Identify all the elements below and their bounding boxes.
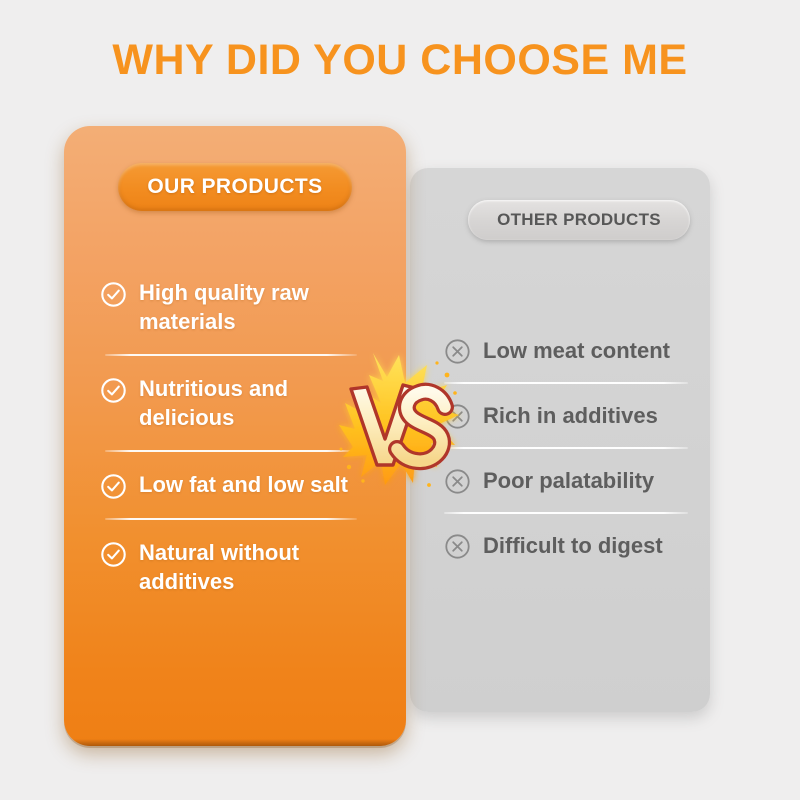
check-circle-icon	[100, 281, 127, 308]
list-item-label: Nutritious and delicious	[139, 374, 380, 432]
x-circle-icon	[444, 338, 471, 365]
list-divider	[105, 518, 357, 520]
list-item-label: Low fat and low salt	[139, 470, 348, 499]
our-products-heading-pill: OUR PRODUCTS	[118, 163, 352, 211]
x-circle-icon	[444, 533, 471, 560]
list-item-label: Poor palatability	[483, 466, 654, 495]
list-divider	[444, 382, 688, 384]
page-title: WHY DID YOU CHOOSE ME	[0, 36, 800, 85]
list-divider	[444, 447, 688, 449]
other-products-list: Low meat content Rich in additives Poor …	[444, 336, 694, 560]
list-item-label: Difficult to digest	[483, 531, 663, 560]
list-item: Rich in additives	[444, 401, 694, 430]
list-item-label: Rich in additives	[483, 401, 658, 430]
check-circle-icon	[100, 473, 127, 500]
list-divider	[444, 512, 688, 514]
list-item: Natural without additives	[100, 538, 380, 596]
our-products-heading-label: OUR PRODUCTS	[147, 175, 322, 199]
other-products-heading-label: OTHER PRODUCTS	[497, 210, 661, 230]
list-item: Low meat content	[444, 336, 694, 365]
x-circle-icon	[444, 403, 471, 430]
list-item-label: High quality raw materials	[139, 278, 380, 336]
list-item: Difficult to digest	[444, 531, 694, 560]
list-item: High quality raw materials	[100, 278, 380, 336]
check-circle-icon	[100, 377, 127, 404]
list-divider	[105, 354, 357, 356]
check-circle-icon	[100, 541, 127, 568]
infographic-canvas: WHY DID YOU CHOOSE ME OTHER PRODUCTS OUR…	[0, 0, 800, 800]
x-circle-icon	[444, 468, 471, 495]
list-item: Poor palatability	[444, 466, 694, 495]
list-item-label: Low meat content	[483, 336, 670, 365]
list-item: Nutritious and delicious	[100, 374, 380, 432]
list-divider	[105, 450, 357, 452]
list-item-label: Natural without additives	[139, 538, 380, 596]
list-item: Low fat and low salt	[100, 470, 380, 500]
other-products-heading-pill: OTHER PRODUCTS	[468, 200, 690, 240]
our-products-list: High quality raw materials Nutritious an…	[100, 278, 380, 596]
